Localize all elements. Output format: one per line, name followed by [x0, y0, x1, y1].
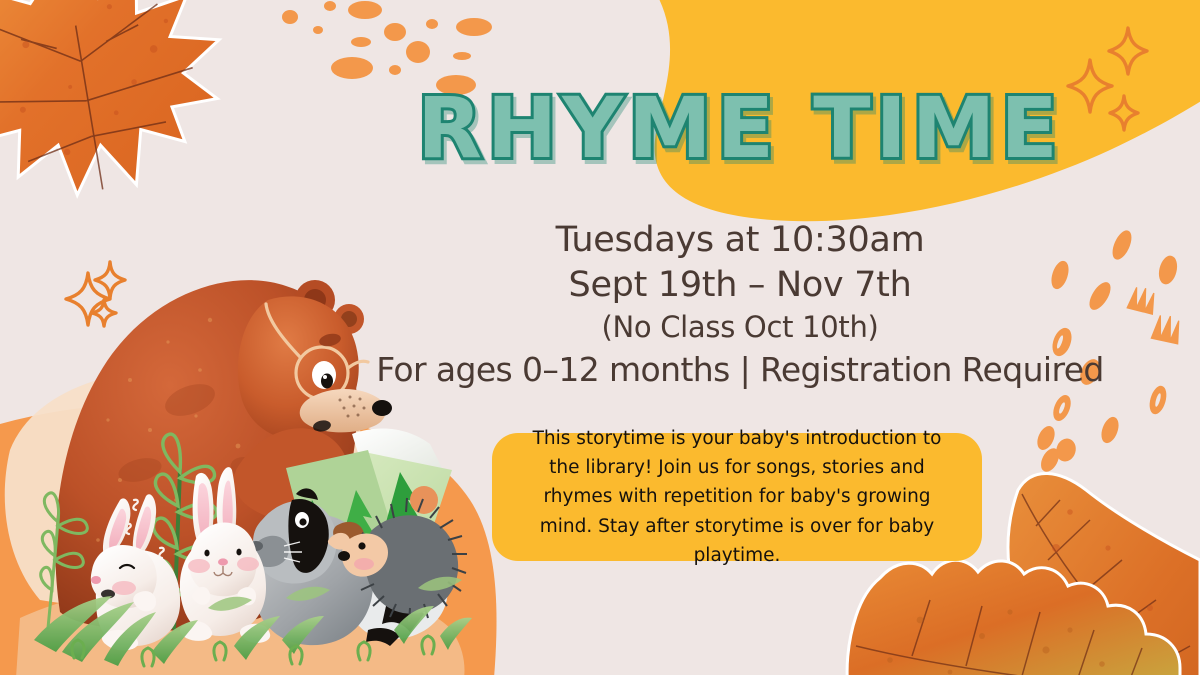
- page-title: RHYME TIME: [417, 86, 1063, 170]
- schedule-time: Tuesdays at 10:30am: [370, 218, 1110, 263]
- schedule-date-range: Sept 19th – Nov 7th: [370, 263, 1110, 308]
- schedule-info-block: Tuesdays at 10:30am Sept 19th – Nov 7th …: [370, 218, 1110, 391]
- poster-canvas: RHYME TIME Tuesdays at 10:30am Sept 19th…: [0, 0, 1200, 675]
- description-callout-box: This storytime is your baby's introducti…: [492, 433, 982, 561]
- schedule-exception: (No Class Oct 10th): [370, 308, 1110, 346]
- description-text: This storytime is your baby's introducti…: [492, 424, 982, 570]
- schedule-ages-registration: For ages 0–12 months | Registration Requ…: [370, 348, 1110, 392]
- poster-title-container: RHYME TIME: [420, 78, 1060, 178]
